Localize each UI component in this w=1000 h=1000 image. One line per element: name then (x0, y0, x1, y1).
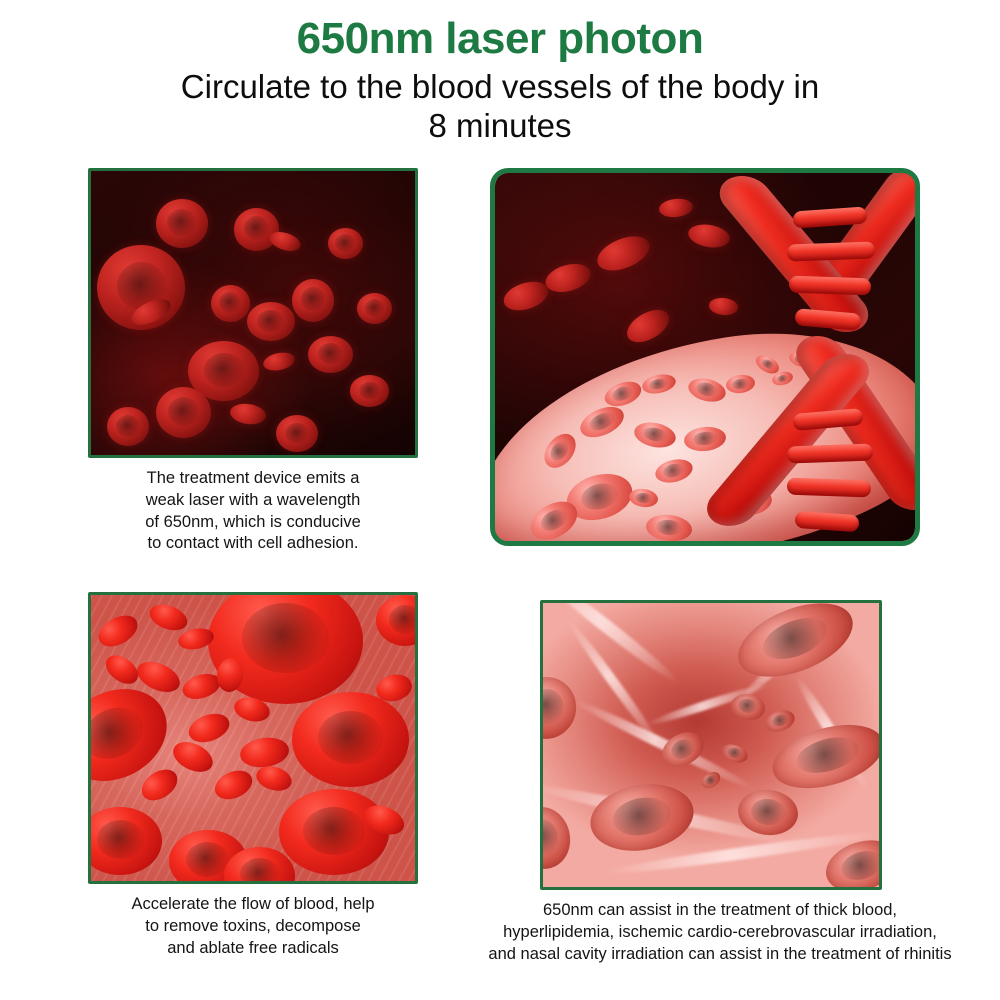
caption-line: 650nm can assist in the treatment of thi… (440, 900, 1000, 922)
page-title: 650nm laser photon (0, 16, 1000, 62)
subtitle-line-1: Circulate to the blood vessels of the bo… (100, 68, 900, 107)
caption-line: and ablate free radicals (66, 938, 440, 960)
caption-blood-flow: Accelerate the flow of blood, help to re… (66, 894, 440, 959)
caption-vessel-interior: 650nm can assist in the treatment of thi… (440, 900, 1000, 965)
panel-laser-emission-image (88, 168, 418, 458)
artwork-packed-red-cells (91, 595, 415, 881)
panel-vessel-interior-image (540, 600, 882, 890)
caption-line: and nasal cavity irradiation can assist … (440, 944, 1000, 966)
caption-line: to remove toxins, decompose (66, 916, 440, 938)
caption-line: hyperlipidemia, ischemic cardio-cerebrov… (440, 922, 1000, 944)
caption-line: Accelerate the flow of blood, help (66, 894, 440, 916)
page-header: 650nm laser photon Circulate to the bloo… (0, 0, 1000, 146)
caption-line: The treatment device emits a (88, 468, 418, 490)
caption-line: to contact with cell adhesion. (88, 533, 418, 555)
panel-blood-flow-image (88, 592, 418, 884)
artwork-dna-helix-vessel (495, 173, 915, 541)
page-subtitle: Circulate to the blood vessels of the bo… (100, 68, 900, 146)
subtitle-line-2: 8 minutes (100, 107, 900, 146)
caption-laser-emission: The treatment device emits a weak laser … (88, 468, 418, 555)
caption-line: of 650nm, which is conducive (88, 512, 418, 534)
artwork-vessel-interior (543, 603, 879, 887)
artwork-dark-blood-field (91, 171, 415, 455)
panel-grid: The treatment device emits a weak laser … (0, 160, 1000, 1000)
panel-dna-bloodstream-image (490, 168, 920, 546)
caption-line: weak laser with a wavelength (88, 490, 418, 512)
